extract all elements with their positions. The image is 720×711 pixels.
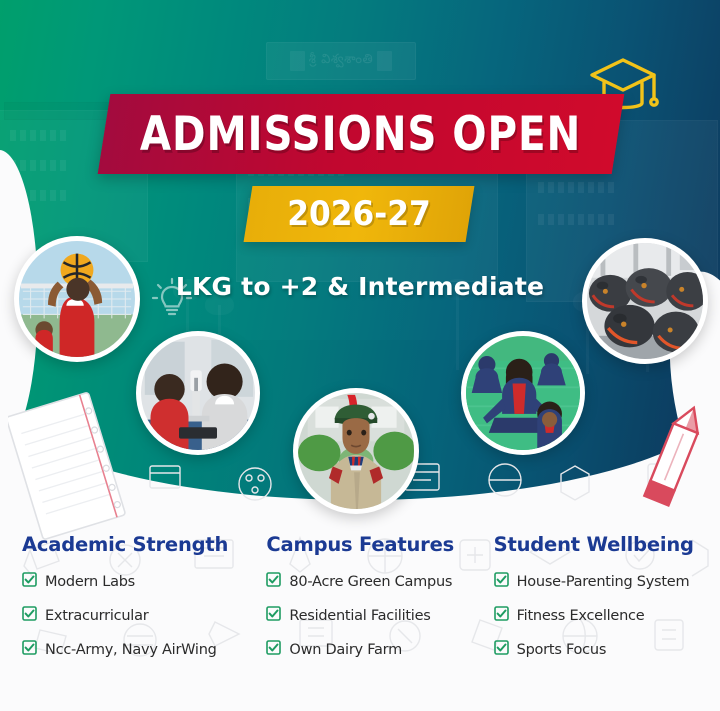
column-heading: Campus Features: [266, 533, 477, 556]
check-icon: [22, 572, 37, 592]
ncc-cadet-photo: [293, 388, 419, 514]
feature-column-campus-features: Campus Features 80-Acre Green Campus: [247, 533, 477, 674]
feature-label: 80-Acre Green Campus: [289, 574, 452, 590]
column-heading: Student Wellbeing: [494, 533, 720, 556]
check-icon: [266, 640, 281, 660]
check-icon: [22, 606, 37, 626]
admissions-poster: శ్రీ విశ్వశాంతి: [0, 0, 720, 711]
banner-title: ADMISSIONS OPEN: [140, 107, 581, 162]
check-icon: [266, 572, 281, 592]
dairy-farm-photo: [582, 238, 708, 364]
volleyball-photo: [14, 236, 140, 362]
features-section: Academic Strength Modern Labs E: [0, 533, 720, 674]
feature-label: House-Parenting System: [517, 574, 690, 590]
feature-item: 80-Acre Green Campus: [266, 572, 477, 592]
feature-item: Residential Facilities: [266, 606, 477, 626]
feature-item: Sports Focus: [494, 640, 720, 660]
check-icon: [494, 606, 509, 626]
check-icon: [22, 640, 37, 660]
feature-item: Fitness Excellence: [494, 606, 720, 626]
feature-label: Residential Facilities: [289, 608, 430, 624]
feature-label: Sports Focus: [517, 642, 607, 658]
feature-item: Own Dairy Farm: [266, 640, 477, 660]
background-signage-text: శ్రీ విశ్వశాంతి: [309, 52, 373, 70]
admissions-banner: ADMISSIONS OPEN: [104, 94, 618, 174]
check-icon: [494, 640, 509, 660]
academic-year: 2026-27: [287, 194, 431, 234]
microscope-photo: [136, 331, 260, 455]
column-heading: Academic Strength: [22, 533, 247, 556]
check-icon: [494, 572, 509, 592]
yoga-photo: [461, 331, 585, 455]
year-badge: 2026-27: [248, 186, 470, 242]
check-icon: [266, 606, 281, 626]
feature-label: Modern Labs: [45, 574, 135, 590]
feature-item: Extracurricular: [22, 606, 247, 626]
feature-item: House-Parenting System: [494, 572, 720, 592]
feature-item: Modern Labs: [22, 572, 247, 592]
feature-label: Extracurricular: [45, 608, 148, 624]
feature-item: Ncc-Army, Navy AirWing: [22, 640, 247, 660]
feature-column-academic-strength: Academic Strength Modern Labs E: [0, 533, 247, 674]
feature-label: Own Dairy Farm: [289, 642, 402, 658]
feature-column-student-wellbeing: Student Wellbeing House-Parenting System: [478, 533, 720, 674]
feature-label: Ncc-Army, Navy AirWing: [45, 642, 217, 658]
feature-label: Fitness Excellence: [517, 608, 645, 624]
